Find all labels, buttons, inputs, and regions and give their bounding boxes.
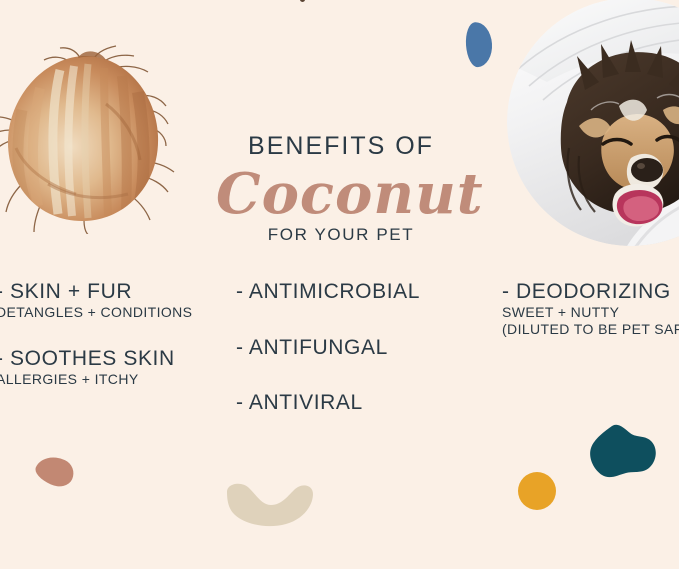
benefit-subtext: DETANGLES + CONDITIONS <box>0 304 226 322</box>
clay-teardrop-shape <box>32 450 78 491</box>
beige-crescent-icon <box>224 481 314 527</box>
list-item: - DEODORIZING SWEET + NUTTY (DILUTED TO … <box>502 280 679 339</box>
list-item: - ANTIFUNGAL <box>236 336 466 360</box>
wet-dog-photo-image <box>507 0 679 246</box>
benefit-title: - SKIN + FUR <box>0 280 226 304</box>
benefit-title: - DEODORIZING <box>502 280 679 304</box>
list-item: - SKIN + FUR DETANGLES + CONDITIONS <box>0 280 226 321</box>
coconut-script-title: Coconut <box>216 165 466 224</box>
benefit-title: - SOOTHES SKIN <box>0 347 226 371</box>
poster-canvas: BENEFITS OF Coconut FOR YOUR PET - SKIN … <box>0 0 679 569</box>
benefit-title: - ANTIFUNGAL <box>236 336 466 360</box>
headline-block: BENEFITS OF Coconut FOR YOUR PET <box>216 134 466 243</box>
list-item: - SOOTHES SKIN ALLERGIES + ITCHY <box>0 347 226 388</box>
teal-blob-icon <box>588 424 658 482</box>
dog-photo <box>507 0 679 246</box>
benefit-title: - ANTIMICROBIAL <box>236 280 466 304</box>
benefits-column-middle: - ANTIMICROBIAL - ANTIFUNGAL - ANTIVIRAL <box>236 280 466 447</box>
top-edge-speck <box>300 0 305 2</box>
page-title: BENEFITS OF <box>216 134 466 159</box>
benefit-subtext: ALLERGIES + ITCHY <box>0 371 226 389</box>
benefit-subtext: SWEET + NUTTY <box>502 304 679 322</box>
list-item: - ANTIMICROBIAL <box>236 280 466 304</box>
teal-blob-shape <box>588 424 658 482</box>
list-item: - ANTIVIRAL <box>236 391 466 415</box>
blue-crescent-shape <box>464 21 493 68</box>
page-subtitle: FOR YOUR PET <box>216 226 466 243</box>
coconut-icon <box>0 44 184 234</box>
benefits-column-right: - DEODORIZING SWEET + NUTTY (DILUTED TO … <box>502 280 679 339</box>
beige-crescent-shape <box>224 481 314 527</box>
benefits-column-left: - SKIN + FUR DETANGLES + CONDITIONS - SO… <box>0 280 226 414</box>
benefit-subtext-secondary: (DILUTED TO BE PET SAFE <box>502 321 679 339</box>
coconut-illustration <box>0 44 184 234</box>
benefit-title: - ANTIVIRAL <box>236 391 466 415</box>
amber-circle-shape <box>518 472 556 510</box>
